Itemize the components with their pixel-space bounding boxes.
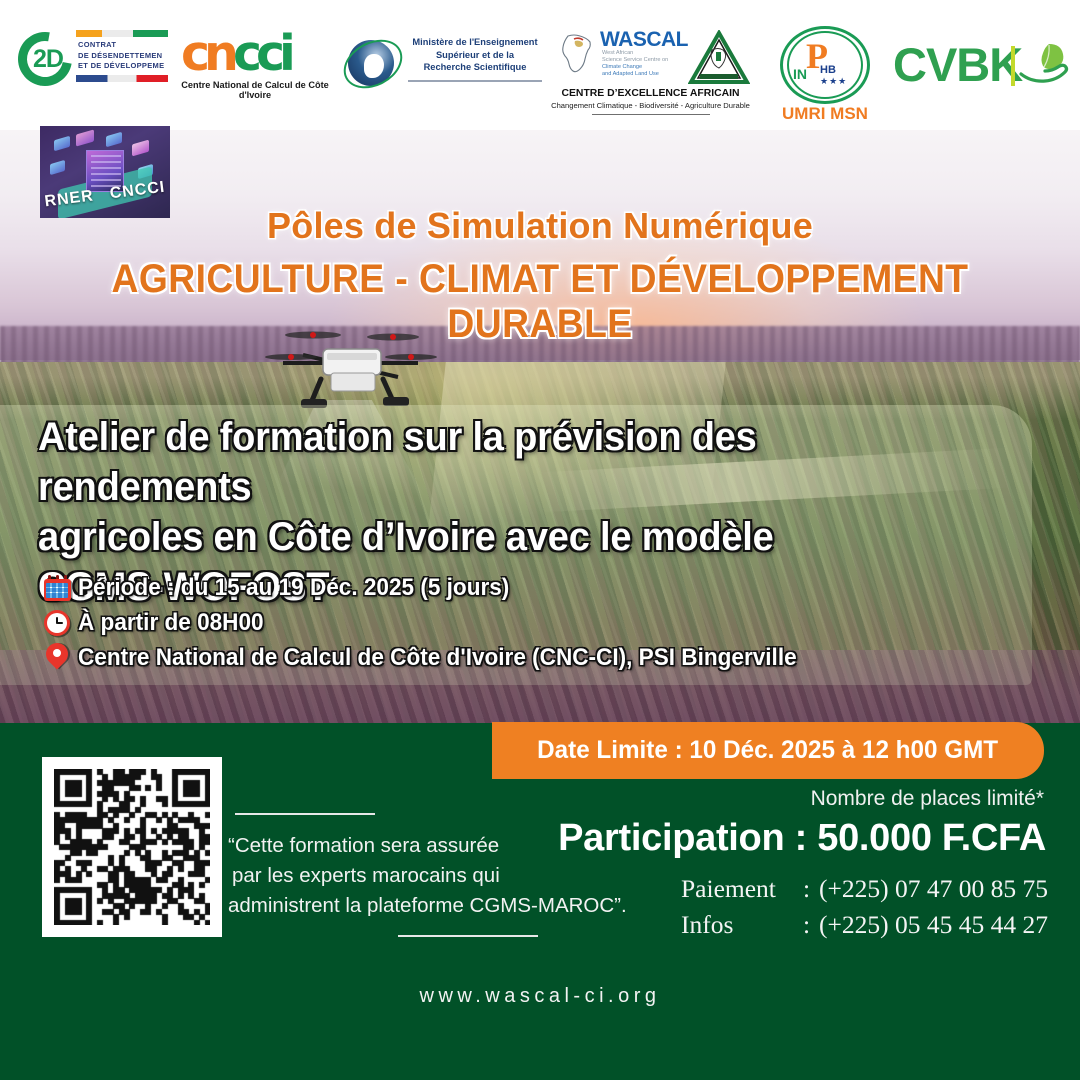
footer-block: Date Limite : 10 Déc. 2025 à 12 h00 GMT … — [0, 723, 1080, 1080]
quote-line-2: par les experts marocains qui — [228, 861, 628, 891]
logo-c2d: 2D CONTRAT DE DÉSENDETTEMEN ET DE DÉVELO… — [18, 30, 168, 92]
wascal-caption: CENTRE D’EXCELLENCE AFRICAIN — [548, 88, 753, 99]
quote-line-3: administrent la plateforme CGMS-MAROC”. — [228, 891, 628, 921]
hand-leaf-icon — [1019, 40, 1071, 92]
logo-cnc-ci: cncci Centre National de Calcul de Côte … — [175, 28, 335, 106]
c2d-lines: CONTRAT DE DÉSENDETTEMEN ET DE DÉVELOPPE… — [76, 30, 168, 82]
contact-value-payment[interactable]: (+225) 07 47 00 85 75 — [819, 871, 1048, 907]
umri-label: UMRI MSN — [760, 104, 890, 124]
wascal-wordmark: WASCAL — [600, 28, 688, 52]
quote-rule-bottom — [398, 935, 538, 937]
logo-band: 2D CONTRAT DE DÉSENDETTEMEN ET DE DÉVELO… — [0, 0, 1080, 130]
qr-code[interactable] — [42, 757, 222, 937]
places-note: Nombre de places limité* — [811, 787, 1044, 811]
cnc-ci-caption: Centre National de Calcul de Côte d'Ivoi… — [175, 80, 335, 100]
detail-time-text: À partir de 08H00 — [78, 609, 264, 637]
umri-hb-glyph: HB — [820, 64, 836, 76]
c2d-flag-france-icon — [76, 75, 168, 82]
deadline-banner: Date Limite : 10 Déc. 2025 à 12 h00 GMT — [492, 722, 1044, 779]
calendar-icon — [36, 575, 78, 601]
c2d-line-2: DE DÉSENDETTEMEN — [78, 51, 168, 62]
contact-list: Paiement : (+225) 07 47 00 85 75 Infos :… — [681, 871, 1048, 943]
wascal-caption-sub: Changement Climatique - Biodiversité - A… — [548, 101, 753, 110]
umri-stars-icon: ★★★ — [820, 76, 847, 87]
wascal-divider — [592, 114, 710, 115]
logo-ministere: Ministère de l'Enseignement Supérieur et… — [342, 32, 542, 98]
poster-root: 2D CONTRAT DE DÉSENDETTEMEN ET DE DÉVELO… — [0, 0, 1080, 1080]
ministere-line-2: Supérieur et de la — [408, 49, 542, 62]
logo-row: 2D CONTRAT DE DÉSENDETTEMEN ET DE DÉVELO… — [0, 0, 1080, 130]
wascal-sub-4: and Adapted Land Use — [602, 71, 682, 78]
detail-period-text: Période : du 15 au 19 Déc. 2025 (5 jours… — [78, 574, 509, 602]
quote-rule-top — [235, 813, 375, 815]
ministere-line-1: Ministère de l'Enseignement — [408, 36, 542, 49]
wascal-sub-3: Climate Change — [602, 64, 682, 71]
contact-row-payment: Paiement : (+225) 07 47 00 85 75 — [681, 871, 1048, 907]
c2d-flag-ivory-icon — [76, 30, 168, 37]
contact-row-infos: Infos : (+225) 05 45 45 44 27 — [681, 907, 1048, 943]
logo-wascal: WASCAL West African Science Service Cent… — [548, 26, 753, 116]
qr-code-grid — [54, 769, 210, 925]
contact-label-payment: Paiement — [681, 871, 803, 907]
location-pin-icon — [36, 643, 78, 673]
event-details: Période : du 15 au 19 Déc. 2025 (5 jours… — [36, 572, 996, 677]
ministere-title: Ministère de l'Enseignement Supérieur et… — [408, 36, 542, 74]
wascal-sub-1: West African — [602, 50, 682, 57]
cvbk-divider — [1011, 46, 1015, 86]
wascal-sub-2: Science Service Centre on — [602, 57, 682, 64]
c2d-line-1: CONTRAT — [78, 40, 168, 51]
c2d-mark-icon: 2D — [18, 32, 72, 88]
contact-label-infos: Infos — [681, 907, 803, 943]
headline-line-2: agricoles en Côte d’Ivoire avec le modèl… — [38, 512, 979, 562]
hero-title-block: Pôles de Simulation Numérique AGRICULTUR… — [0, 205, 1080, 347]
contact-value-infos[interactable]: (+225) 05 45 45 44 27 — [819, 907, 1048, 943]
deadline-banner-text: Date Limite : 10 Déc. 2025 à 12 h00 GMT — [538, 736, 999, 765]
detail-venue-text: Centre National de Calcul de Côte d'Ivoi… — [78, 644, 797, 672]
logo-umri-msn: P IN HB ★★★ UMRI MSN — [760, 26, 890, 122]
c2d-words: CONTRAT DE DÉSENDETTEMEN ET DE DÉVELOPPE… — [76, 37, 168, 74]
ministere-divider — [408, 80, 542, 82]
umri-in-glyph: IN — [793, 66, 807, 82]
cnc-ci-mark-icon: cncci — [181, 28, 329, 80]
wascal-subtitle: West African Science Service Centre on C… — [602, 50, 682, 78]
c2d-line-3: ET DE DÉVELOPPEME — [78, 61, 168, 72]
hero-theme: AGRICULTURE - CLIMAT ET DÉVELOPPEMENT DU… — [38, 257, 1042, 347]
cvbk-wordmark: CVBK — [893, 40, 1022, 90]
detail-row-period: Période : du 15 au 19 Déc. 2025 (5 jours… — [36, 572, 996, 603]
africa-map-icon — [558, 32, 602, 76]
c2d-mark-text: 2D — [33, 45, 63, 74]
clock-icon — [36, 610, 78, 636]
contact-sep-infos: : — [803, 907, 819, 943]
ministere-mark-icon — [342, 34, 404, 92]
headline-line-1: Atelier de formation sur la prévision de… — [38, 412, 979, 512]
website-url[interactable]: www.wascal-ci.org — [0, 985, 1080, 1008]
logo-cvbk: CVBK — [893, 40, 1068, 102]
logo-rner-cncci: RNER CNCCI — [40, 126, 170, 218]
detail-row-time: À partir de 08H00 — [36, 607, 996, 638]
ministere-line-3: Recherche Scientifique — [408, 61, 542, 74]
detail-row-venue: Centre National de Calcul de Côte d'Ivoi… — [36, 642, 996, 673]
contact-sep-payment: : — [803, 871, 819, 907]
participation-price: Participation : 50.000 F.CFA — [558, 817, 1046, 860]
wascal-triangle-icon — [688, 30, 750, 86]
